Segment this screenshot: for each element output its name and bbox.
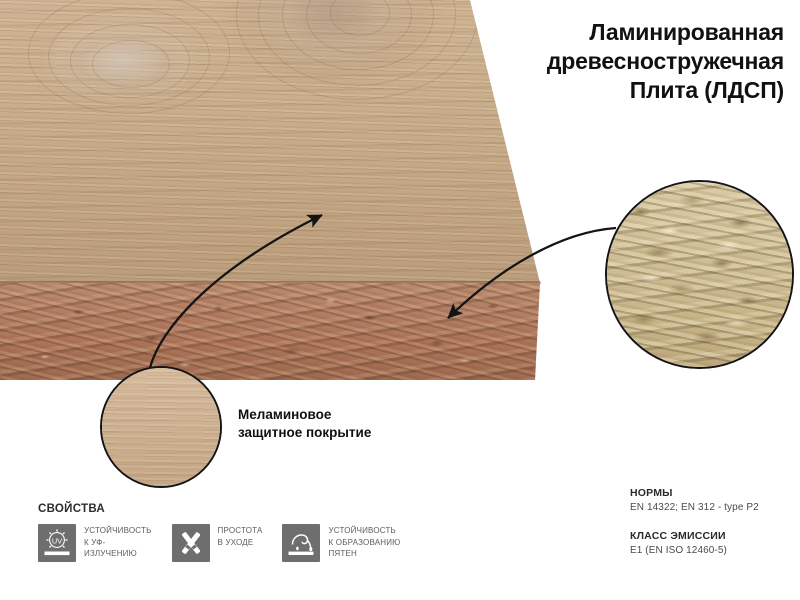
svg-text:UV: UV xyxy=(52,536,62,545)
property-stain-line-3: ПЯТЕН xyxy=(328,548,400,560)
property-care-line-2: В УХОДЕ xyxy=(218,537,263,549)
infographic-canvas: Ламинированная древесностружечная Плита … xyxy=(0,0,800,600)
properties-heading: СВОЙСТВА xyxy=(38,503,438,515)
callout-melamine-line-1: Меламиновое xyxy=(238,406,371,424)
property-label-easy-care: ПРОСТОТА В УХОДЕ xyxy=(218,524,263,548)
property-item-uv-resistance: UV УСТОЙЧИВОСТЬ К УФ- ИЗЛУЧЕНИЮ xyxy=(38,524,152,562)
property-item-stain-resistance: УСТОЙЧИВОСТЬ К ОБРАЗОВАНИЮ ПЯТЕН xyxy=(282,524,400,562)
chipboard-core-texture xyxy=(607,182,792,367)
wood-growth-ring xyxy=(92,40,170,88)
property-uv-line-1: УСТОЙЧИВОСТЬ xyxy=(84,525,152,537)
standards-heading: НОРМЫ xyxy=(630,487,795,499)
norms-spacer xyxy=(630,513,795,530)
property-care-line-1: ПРОСТОТА xyxy=(218,525,263,537)
properties-section: СВОЙСТВА xyxy=(38,503,438,562)
page-title: Ламинированная древесностружечная Плита … xyxy=(474,18,784,105)
title-line-2: древесностружечная xyxy=(474,47,784,76)
chipboard-edge-surface xyxy=(0,283,560,380)
magnifier-circle-chipboard-core xyxy=(605,180,794,369)
melamine-texture xyxy=(102,368,220,486)
property-label-stain-resistance: УСТОЙЧИВОСТЬ К ОБРАЗОВАНИЮ ПЯТЕН xyxy=(328,524,400,560)
properties-list: UV УСТОЙЧИВОСТЬ К УФ- ИЗЛУЧЕНИЮ xyxy=(38,524,438,562)
property-item-easy-care: ПРОСТОТА В УХОДЕ xyxy=(172,524,263,562)
property-stain-line-1: УСТОЙЧИВОСТЬ xyxy=(328,525,400,537)
standards-value: EN 14322; EN 312 - type P2 xyxy=(630,502,795,513)
property-stain-line-2: К ОБРАЗОВАНИЮ xyxy=(328,537,400,549)
callout-melamine-line-2: защитное покрытие xyxy=(238,424,371,442)
easy-care-brush-icon xyxy=(172,524,210,562)
brush-cross-icon-glyph xyxy=(172,524,210,562)
norms-section: НОРМЫ EN 14322; EN 312 - type P2 КЛАСС Э… xyxy=(630,487,795,556)
uv-resistance-icon: UV xyxy=(38,524,76,562)
property-uv-line-3: ИЗЛУЧЕНИЮ xyxy=(84,548,152,560)
spill-drop-icon-glyph xyxy=(282,524,320,562)
title-line-1: Ламинированная xyxy=(474,18,784,47)
callout-label-melamine: Меламиновое защитное покрытие xyxy=(238,406,371,442)
magnifier-circle-melamine xyxy=(100,366,222,488)
property-label-uv-resistance: УСТОЙЧИВОСТЬ К УФ- ИЗЛУЧЕНИЮ xyxy=(84,524,152,560)
stain-resistance-icon xyxy=(282,524,320,562)
emission-class-value: E1 (EN ISO 12460-5) xyxy=(630,545,795,556)
uv-icon-glyph: UV xyxy=(38,524,76,562)
emission-class-heading: КЛАСС ЭМИССИИ xyxy=(630,530,795,542)
title-line-3: Плита (ЛДСП) xyxy=(474,76,784,105)
property-uv-line-2: К УФ- xyxy=(84,537,152,549)
